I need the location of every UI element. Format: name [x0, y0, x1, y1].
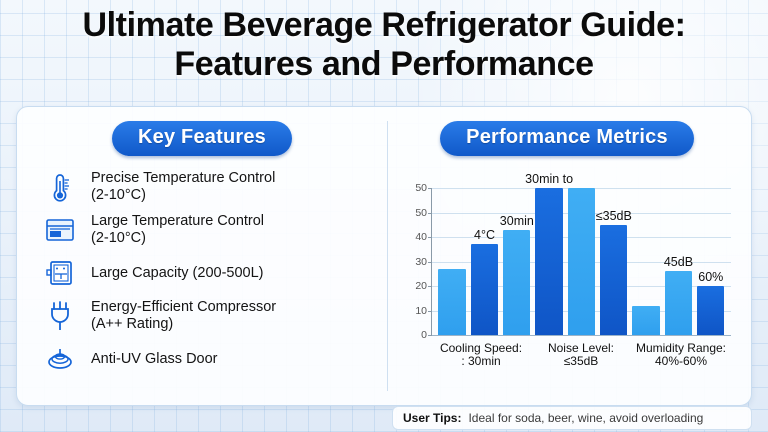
feature-item-label: Large Capacity (200-500L) [91, 265, 264, 282]
chart-bar-group[interactable] [632, 188, 659, 335]
user-tips-label: User Tips: [403, 411, 461, 425]
chart-bar[interactable] [471, 244, 498, 335]
chart-bar-label: ≤35dB [596, 209, 632, 223]
chart-bar-label: 30min to [525, 172, 573, 186]
chart-y-tick-label: 20 [415, 280, 427, 292]
performance-metrics-heading: Performance Metrics [440, 121, 694, 156]
feature-subtext: (2-10°C) [91, 187, 275, 204]
feature-subtext: (2-10°C) [91, 230, 264, 247]
plug-icon [43, 299, 77, 333]
feature-text: Energy-Efficient Compressor [91, 299, 276, 315]
feature-item-large-temperature-control[interactable]: Large Temperature Control (2-10°C) [43, 213, 387, 247]
performance-metrics-panel: Performance Metrics 5050403020100 4°C30m… [387, 107, 751, 405]
chart-bar[interactable] [568, 188, 595, 335]
chart-bar-group[interactable] [568, 188, 595, 335]
feature-item-label: Precise Temperature Control (2-10°C) [91, 170, 275, 203]
chart-x-label-line2: : 30min [432, 355, 531, 368]
page-title-line2: Features and Performance [0, 45, 768, 84]
features-list: Precise Temperature Control (2-10°C) Lar… [17, 170, 387, 376]
key-features-heading: Key Features [112, 121, 292, 156]
feature-subtext: (A++ Rating) [91, 316, 276, 333]
chart-bar[interactable] [665, 271, 692, 335]
chart-y-tick-label: 30 [415, 256, 427, 268]
chart-y-tick-label: 50 [415, 207, 427, 219]
shelf-icon [43, 213, 77, 247]
chart-bar[interactable] [632, 306, 659, 335]
chart-bar-group[interactable]: ≤35dB [600, 188, 627, 335]
chart-x-label-line2: ≤35dB [532, 355, 631, 368]
chart-y-tick-label: 0 [421, 329, 427, 341]
chart-x-label: Noise Level:≤35dB [532, 342, 631, 368]
glass-door-icon [43, 342, 77, 376]
chart-bar-group[interactable]: 30min to [535, 188, 562, 335]
chart-bar[interactable] [697, 286, 724, 335]
chart-x-label-line1: Noise Level: [548, 341, 614, 355]
chart-x-label: Cooling Speed:: 30min [432, 342, 531, 368]
chart-plot-area: 5050403020100 4°C30min30min to≤35dB45dB6… [431, 188, 731, 336]
cabinet-icon [43, 256, 77, 290]
chart-bar-group[interactable] [438, 188, 465, 335]
page-title: Ultimate Beverage Refrigerator Guide: Fe… [0, 6, 768, 85]
chart-bar-label: 4°C [474, 228, 495, 242]
chart-bar[interactable] [535, 188, 562, 335]
chart-bar[interactable] [438, 269, 465, 335]
feature-text: Large Temperature Control [91, 213, 264, 229]
feature-text: Large Capacity (200-500L) [91, 265, 264, 281]
feature-item-large-capacity[interactable]: Large Capacity (200-500L) [43, 256, 387, 290]
chart-bar-group[interactable]: 4°C [471, 188, 498, 335]
user-tips-text: Ideal for soda, beer, wine, avoid overlo… [468, 411, 703, 425]
thermometer-icon [43, 170, 77, 204]
feature-item-anti-uv-glass-door[interactable]: Anti-UV Glass Door [43, 342, 387, 376]
chart-bar-group[interactable]: 60% [697, 188, 724, 335]
chart-x-label-line1: Mumidity Range: [636, 341, 726, 355]
chart-y-tick-label: 50 [415, 182, 427, 194]
chart-bar[interactable] [600, 225, 627, 335]
content-card: Key Features [16, 106, 752, 406]
performance-bar-chart: 5050403020100 4°C30min30min to≤35dB45dB6… [397, 166, 737, 366]
chart-x-label-line2: 40%-60% [632, 355, 731, 368]
chart-bar-group[interactable]: 30min [503, 188, 530, 335]
feature-item-label: Large Temperature Control (2-10°C) [91, 213, 264, 246]
chart-y-tick-label: 40 [415, 231, 427, 243]
chart-x-axis-labels: Cooling Speed:: 30minNoise Level:≤35dBMu… [431, 342, 731, 368]
key-features-panel: Key Features [17, 107, 387, 405]
chart-bar-label: 45dB [664, 255, 693, 269]
chart-bar-label: 60% [698, 270, 723, 284]
feature-item-label: Anti-UV Glass Door [91, 351, 218, 368]
chart-bar-group[interactable]: 45dB [665, 188, 692, 335]
feature-item-energy-efficient-compressor[interactable]: Energy-Efficient Compressor (A++ Rating) [43, 299, 387, 333]
chart-bar-label: 30min [500, 214, 534, 228]
page-title-line1: Ultimate Beverage Refrigerator Guide: [82, 6, 685, 44]
chart-bars: 4°C30min30min to≤35dB45dB60% [432, 188, 731, 335]
feature-text: Anti-UV Glass Door [91, 351, 218, 367]
user-tips-bar: User Tips: Ideal for soda, beer, wine, a… [392, 406, 752, 430]
feature-text: Precise Temperature Control [91, 170, 275, 186]
feature-item-label: Energy-Efficient Compressor (A++ Rating) [91, 299, 276, 332]
chart-bar[interactable] [503, 230, 530, 335]
chart-x-label: Mumidity Range:40%-60% [632, 342, 731, 368]
feature-item-precise-temperature-control[interactable]: Precise Temperature Control (2-10°C) [43, 170, 387, 204]
chart-y-tick-label: 10 [415, 305, 427, 317]
chart-gridline [432, 335, 731, 336]
chart-x-label-line1: Cooling Speed: [440, 341, 522, 355]
